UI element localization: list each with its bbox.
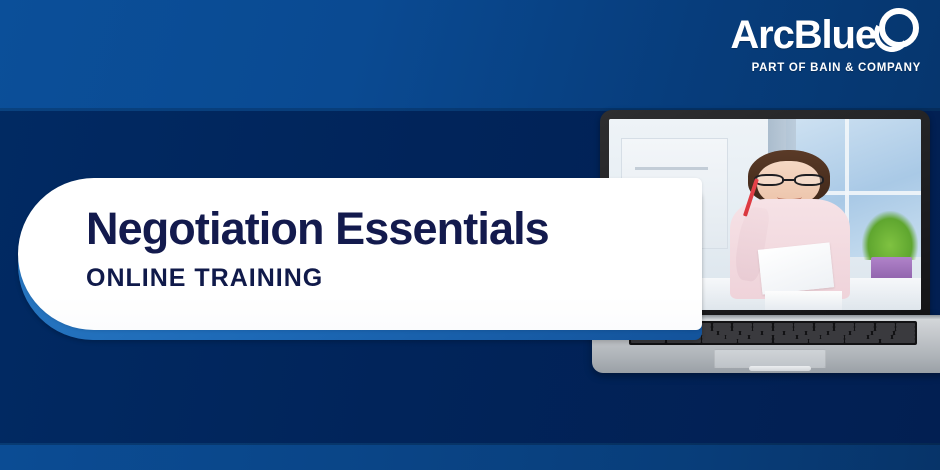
logo-tagline: PART OF BAIN & COMPANY: [752, 62, 921, 74]
arcblue-logo: ArcBlue PART OF BAIN & COMPANY: [695, 9, 923, 81]
page-title: Negotiation Essentials: [86, 202, 682, 256]
person-figure: [728, 150, 853, 310]
plant-leaves: [862, 211, 918, 261]
page-subtitle: ONLINE TRAINING: [86, 262, 682, 294]
laptop-front-notch: [749, 366, 811, 371]
title-card: Negotiation Essentials ONLINE TRAINING: [18, 178, 702, 330]
logo-wordmark-row: ArcBlue: [730, 9, 923, 61]
logo-wordmark: ArcBlue: [730, 11, 876, 59]
footer-bar: [0, 443, 940, 470]
event-banner: ArcBlue PART OF BAIN & COMPANY: [0, 0, 940, 470]
arc-ring-icon: [874, 5, 923, 54]
